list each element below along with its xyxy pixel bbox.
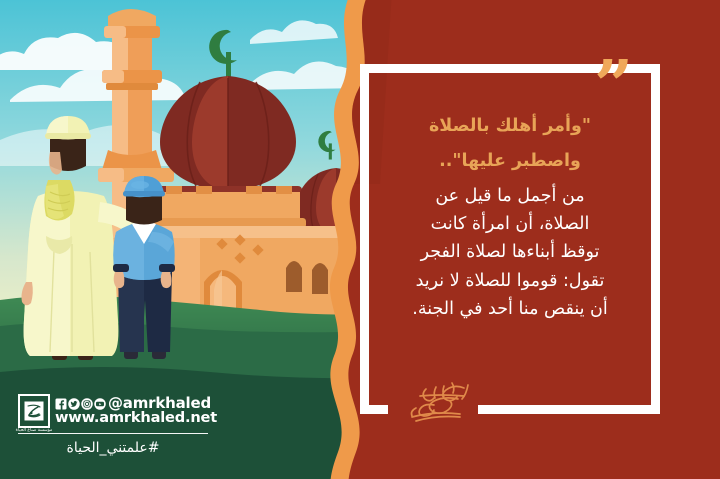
logo-row: مؤسسة صناع الحياة <box>18 394 208 428</box>
author-signature: عمرو خالد <box>396 380 482 422</box>
verse-line-1: "وأمر أهلك بالصلاة <box>372 112 648 141</box>
instagram-icon[interactable] <box>81 398 93 410</box>
body-line-3: توقظ أبناءها لصلاة الفجر <box>372 238 648 266</box>
website-url[interactable]: www.amrkhaled.net <box>55 411 217 426</box>
quote-frame-bottom-left <box>360 405 388 414</box>
amr-khaled-logo-icon: مؤسسة صناع الحياة <box>18 394 50 428</box>
twitter-icon[interactable] <box>68 398 80 410</box>
quote-text-block: "وأمر أهلك بالصلاة واصطبر عليها".. من أج… <box>372 112 648 323</box>
quote-card: ” "وأمر أهلك بالصلاة واصطبر عليها".. من … <box>0 0 720 479</box>
campaign-hashtag[interactable]: #علمتني_الحياة <box>18 440 208 456</box>
handles-block: @amrkhaled www.amrkhaled.net <box>55 396 217 426</box>
youtube-icon[interactable] <box>94 398 106 410</box>
body-line-5: أن ينقص منا أحد في الجنة. <box>372 295 648 323</box>
body-line-2: الصلاة، أن امرأة كانت <box>372 210 648 238</box>
verse-line-2: واصطبر عليها".. <box>372 147 648 176</box>
quote-frame-left <box>360 64 369 414</box>
quote-frame-bottom-right <box>478 405 660 414</box>
body-line-1: من أجمل ما قيل عن <box>372 182 648 210</box>
footer-branding: مؤسسة صناع الحياة <box>18 394 208 456</box>
facebook-icon[interactable] <box>55 398 67 410</box>
quote-frame-right <box>651 64 660 414</box>
quotation-mark-icon: ” <box>594 62 633 110</box>
footer-divider <box>18 433 208 434</box>
body-line-4: تقول: قوموا للصلاة لا نريد <box>372 267 648 295</box>
